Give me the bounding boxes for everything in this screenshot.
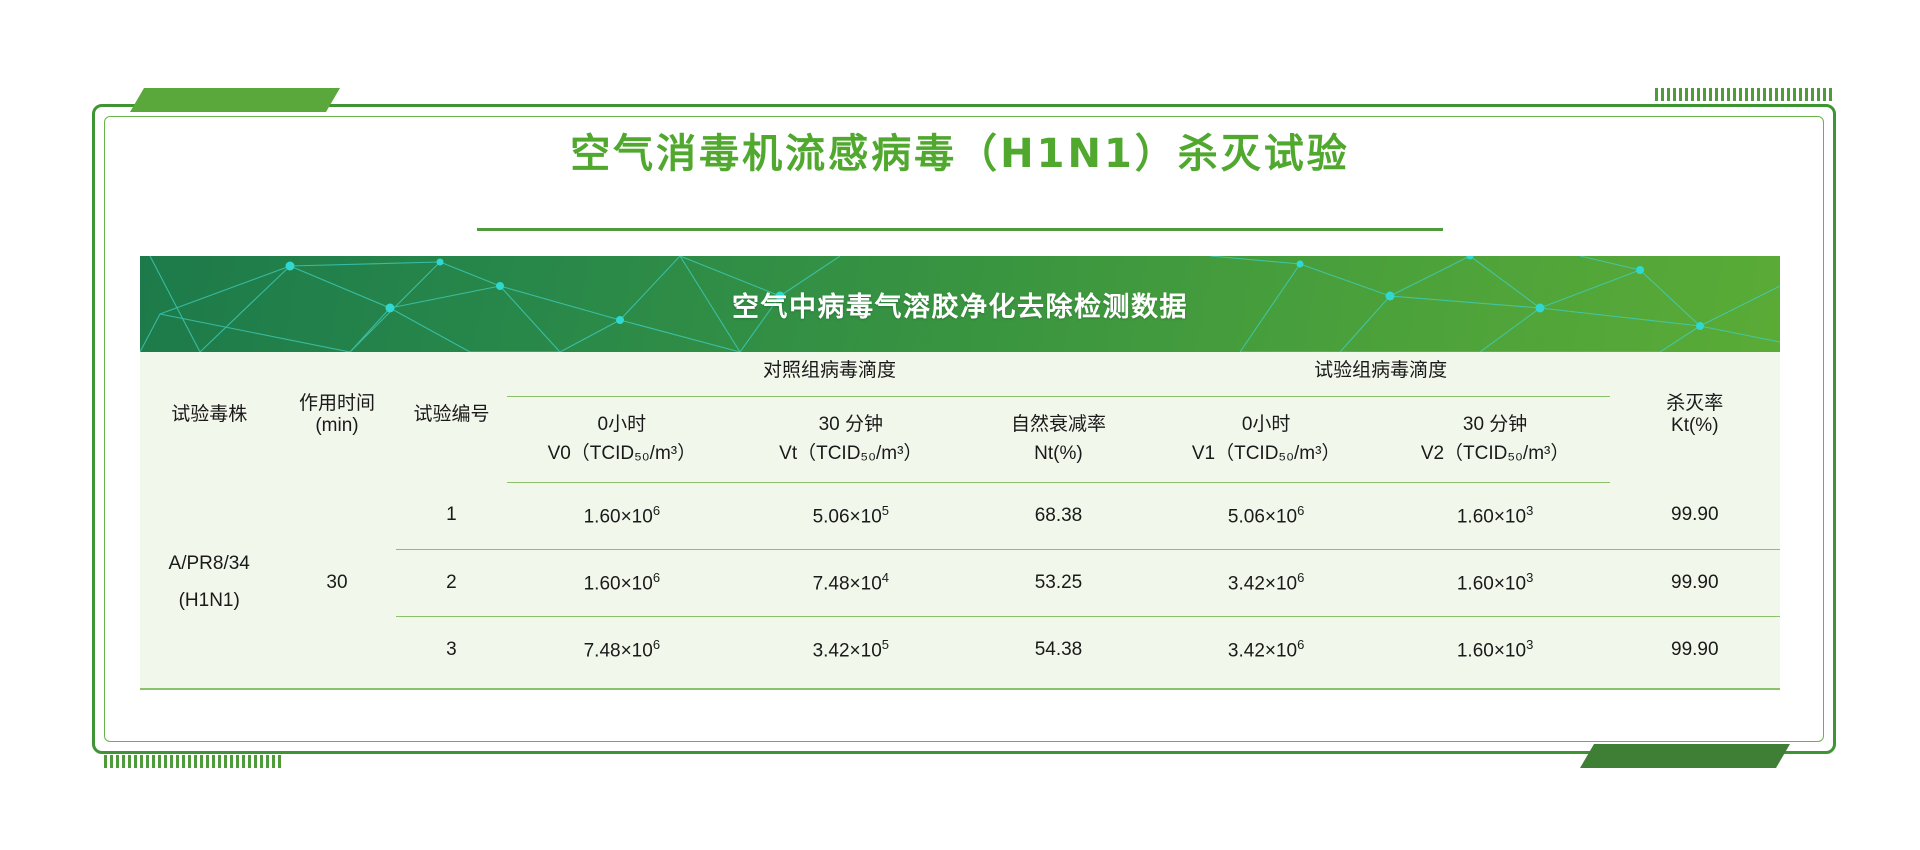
col-header-v0-l2: V0（TCID₅₀/m³） (509, 439, 734, 468)
table-body: A/PR8/34 (H1N1) 30 1 1.60×106 5.06×105 6… (140, 482, 1780, 683)
cell-v1: 5.06×106 (1152, 482, 1381, 549)
cell-kt: 99.90 (1610, 549, 1780, 616)
cell-no: 3 (396, 616, 508, 683)
cell-nt: 54.38 (965, 616, 1151, 683)
cell-vt: 7.48×104 (736, 549, 965, 616)
col-header-duration-l2: (min) (278, 415, 395, 437)
cell-v2: 1.60×103 (1381, 616, 1610, 683)
col-header-duration: 作用时间 (min) (278, 352, 395, 482)
cell-v0: 7.48×106 (507, 616, 736, 683)
poster-root: 空气消毒机流感病毒（H1N1）杀灭试验 空气中病毒气溶胶净化去除检测数据 (0, 0, 1920, 850)
cell-nt: 53.25 (965, 549, 1151, 616)
group-header-test: 试验组病毒滴度 (1152, 352, 1610, 396)
cell-strain: A/PR8/34 (H1N1) (140, 482, 278, 683)
cell-duration: 30 (278, 482, 395, 683)
col-header-v1-l1: 0小时 (1154, 410, 1379, 439)
cell-v2: 1.60×103 (1381, 482, 1610, 549)
col-header-strain: 试验毒株 (140, 352, 278, 482)
page-title-wrap: 空气消毒机流感病毒（H1N1）杀灭试验 (0, 130, 1920, 178)
data-table: 试验毒株 作用时间 (min) 试验编号 对照组病毒滴度 试验组病毒滴度 杀灭率… (140, 352, 1780, 683)
cell-strain-l1: A/PR8/34 (140, 546, 278, 582)
col-header-v2-l2: V2（TCID₅₀/m³） (1383, 439, 1608, 468)
col-header-no: 试验编号 (396, 352, 508, 482)
cell-no: 2 (396, 549, 508, 616)
table-bottom-rule (140, 688, 1780, 690)
cell-v0: 1.60×106 (507, 549, 736, 616)
tick-strip-top-right (1655, 88, 1835, 101)
col-header-vt: 30 分钟 Vt（TCID₅₀/m³） (736, 396, 965, 482)
cell-v0: 1.60×106 (507, 482, 736, 549)
data-table-area: 试验毒株 作用时间 (min) 试验编号 对照组病毒滴度 试验组病毒滴度 杀灭率… (140, 352, 1780, 690)
tick-strip-bottom-left (104, 755, 284, 768)
col-header-v1-l2: V1（TCID₅₀/m³） (1154, 439, 1379, 468)
col-header-no-label: 试验编号 (396, 399, 508, 426)
col-header-v0-l1: 0小时 (509, 410, 734, 439)
col-header-kt-l2: Kt(%) (1610, 415, 1780, 437)
cell-v2: 1.60×103 (1381, 549, 1610, 616)
col-header-nt-l2: Nt(%) (967, 439, 1149, 468)
col-header-nt-l1: 自然衰减率 (967, 410, 1149, 439)
cell-vt: 5.06×105 (736, 482, 965, 549)
col-header-duration-l1: 作用时间 (278, 388, 395, 415)
group-header-row: 试验毒株 作用时间 (min) 试验编号 对照组病毒滴度 试验组病毒滴度 杀灭率… (140, 352, 1780, 396)
cell-v1: 3.42×106 (1152, 616, 1381, 683)
cell-v1: 3.42×106 (1152, 549, 1381, 616)
cell-nt: 68.38 (965, 482, 1151, 549)
section-banner-title: 空气中病毒气溶胶净化去除检测数据 (140, 256, 1780, 352)
cell-kt: 99.90 (1610, 482, 1780, 549)
col-header-v1: 0小时 V1（TCID₅₀/m³） (1152, 396, 1381, 482)
cell-vt: 3.42×105 (736, 616, 965, 683)
section-banner: 空气中病毒气溶胶净化去除检测数据 (140, 256, 1780, 352)
group-header-control: 对照组病毒滴度 (507, 352, 1151, 396)
page-title: 空气消毒机流感病毒（H1N1）杀灭试验 (570, 130, 1350, 178)
corner-accent-top-left (130, 88, 340, 112)
cell-no: 1 (396, 482, 508, 549)
title-underline (477, 228, 1443, 231)
col-header-vt-l1: 30 分钟 (738, 410, 963, 439)
table-head: 试验毒株 作用时间 (min) 试验编号 对照组病毒滴度 试验组病毒滴度 杀灭率… (140, 352, 1780, 482)
col-header-v0: 0小时 V0（TCID₅₀/m³） (507, 396, 736, 482)
col-header-v2-l1: 30 分钟 (1383, 410, 1608, 439)
col-header-vt-l2: Vt（TCID₅₀/m³） (738, 439, 963, 468)
col-header-nt: 自然衰减率 Nt(%) (965, 396, 1151, 482)
cell-strain-l2: (H1N1) (140, 583, 278, 619)
col-header-strain-label: 试验毒株 (140, 399, 278, 426)
col-header-kt: 杀灭率 Kt(%) (1610, 352, 1780, 482)
col-header-kt-l1: 杀灭率 (1610, 388, 1780, 415)
col-header-v2: 30 分钟 V2（TCID₅₀/m³） (1381, 396, 1610, 482)
cell-kt: 99.90 (1610, 616, 1780, 683)
corner-accent-bottom-right (1580, 744, 1790, 768)
table-row: A/PR8/34 (H1N1) 30 1 1.60×106 5.06×105 6… (140, 482, 1780, 549)
